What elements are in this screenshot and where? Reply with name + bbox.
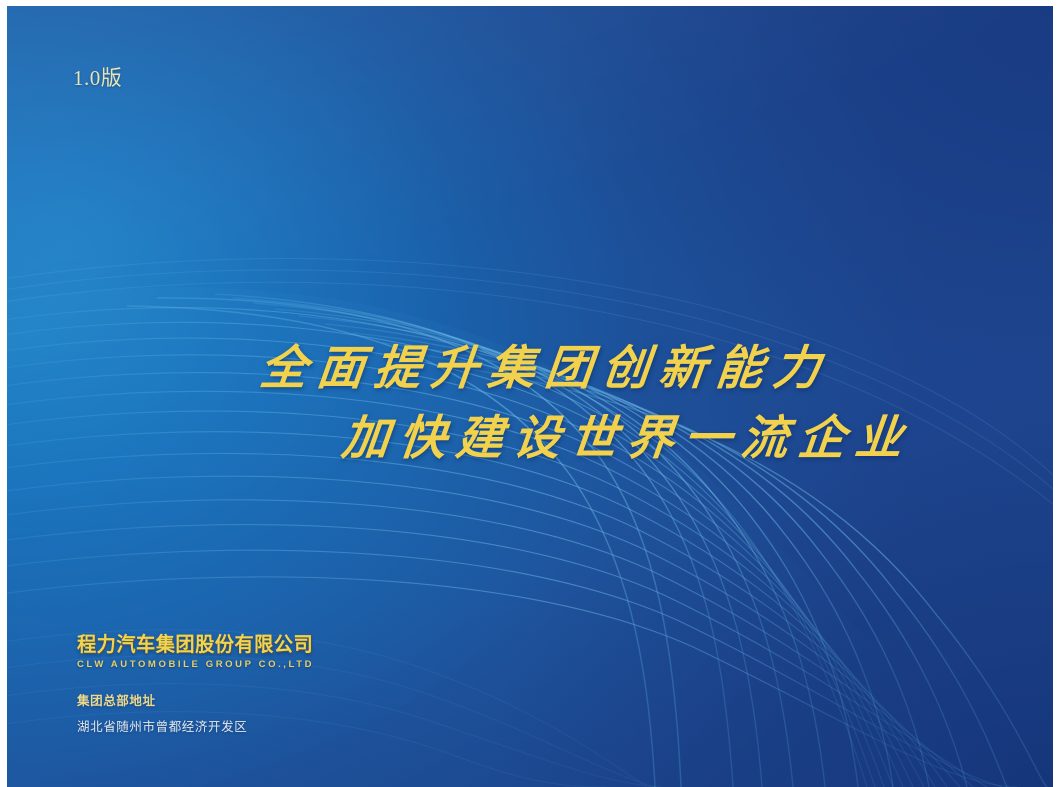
version-label: 1.0版 xyxy=(73,62,122,92)
identity-block: 程力汽车集团股份有限公司 CLW AUTOMOBILE GROUP CO.,LT… xyxy=(77,635,497,735)
company-name-en: CLW AUTOMOBILE GROUP CO.,LTD xyxy=(77,659,497,670)
address-title: 集团总部地址 xyxy=(77,690,497,709)
company-name-cn: 程力汽车集团股份有限公司 xyxy=(77,635,480,656)
cover-slide: 1.0版 全面提升集团创新能力 加快建设世界一流企业 程力汽车集团股份有限公司 … xyxy=(7,6,1053,787)
slide-frame: 1.0版 全面提升集团创新能力 加快建设世界一流企业 程力汽车集团股份有限公司 … xyxy=(0,0,1060,787)
address-text: 湖北省随州市曾都经济开发区 xyxy=(77,716,497,735)
company-logo: 程力汽车集团股份有限公司 CLW AUTOMOBILE GROUP CO.,LT… xyxy=(77,635,497,670)
